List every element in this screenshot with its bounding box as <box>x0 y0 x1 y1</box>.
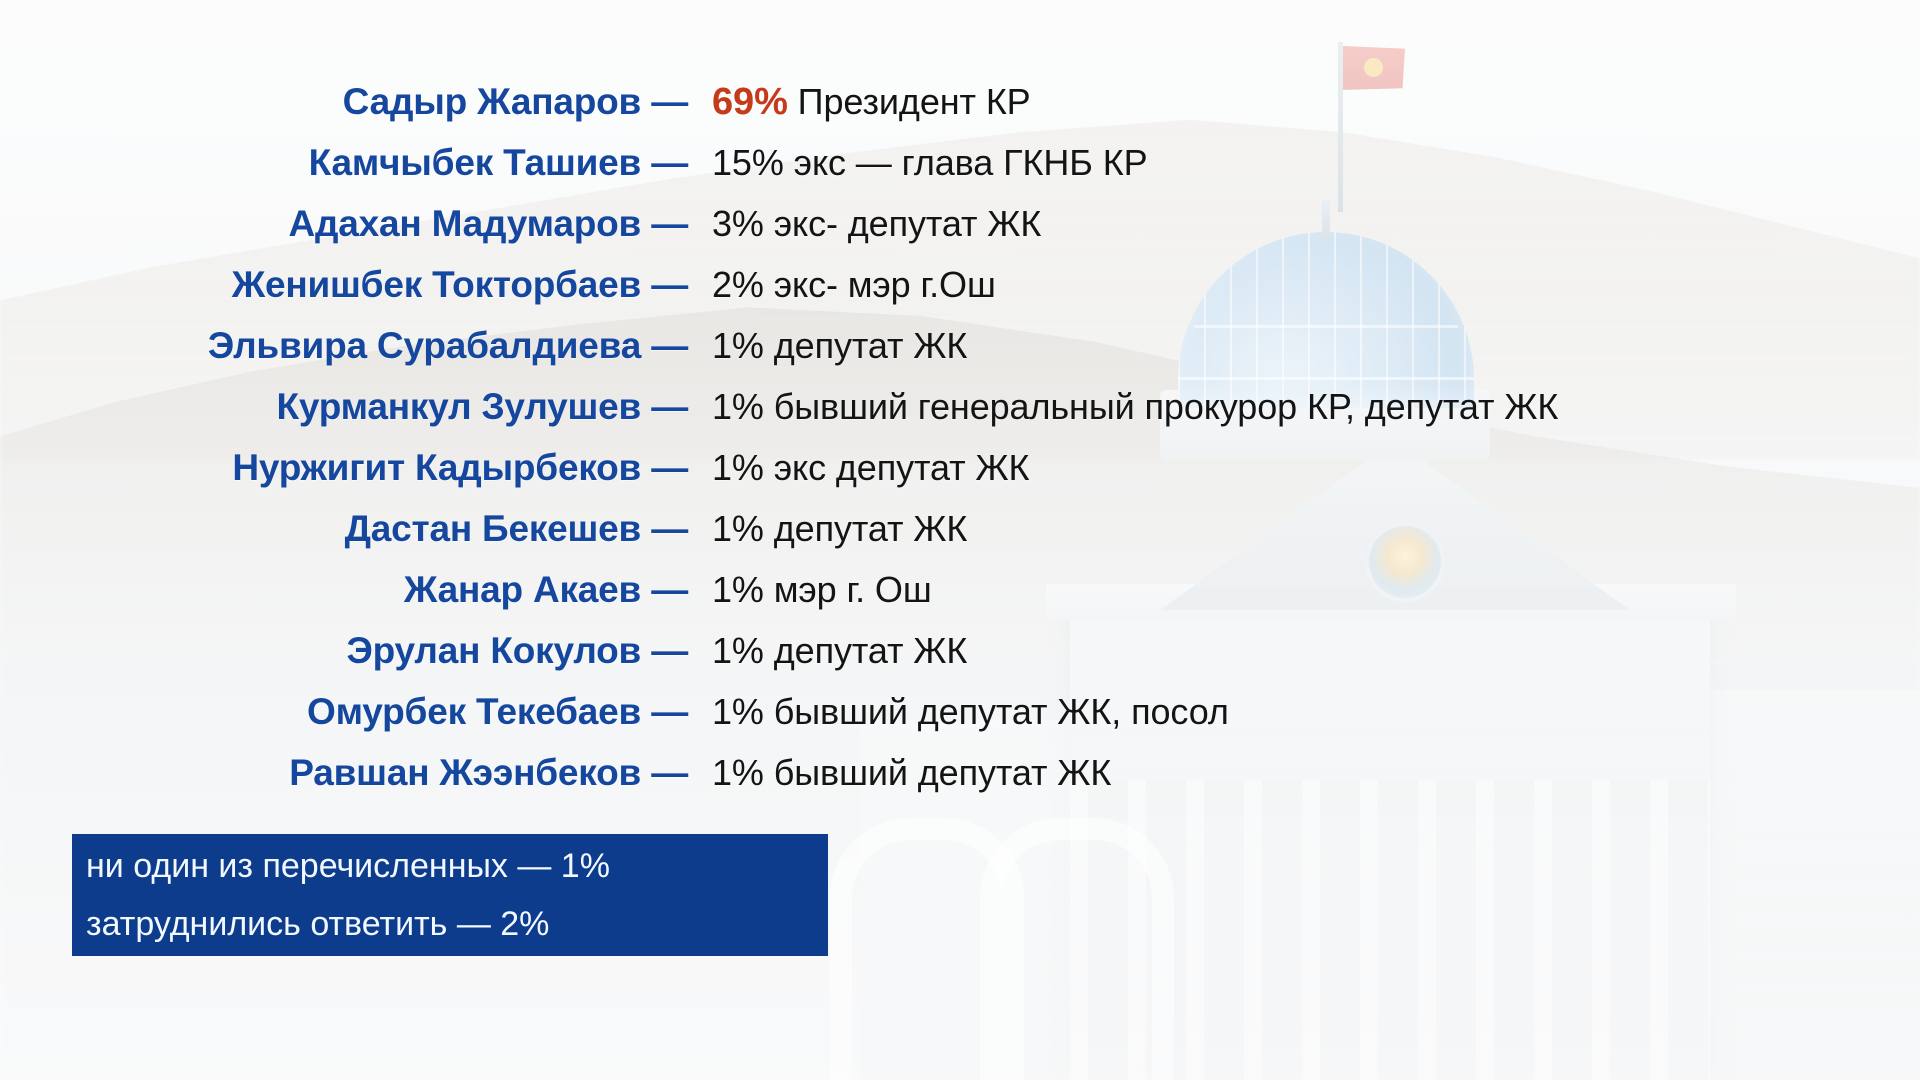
candidate-name: Адахан Мадумаров — <box>0 203 712 245</box>
answer-none-of-listed: ни один из перечисленных — 1% <box>86 837 828 895</box>
candidate-name: Эльвира Сурабалдиева — <box>0 325 712 367</box>
percent-value: 3% <box>712 203 764 244</box>
percent-value: 2% <box>712 264 764 305</box>
candidate-role: Президент КР <box>798 81 1031 122</box>
candidate-role: депутат ЖК <box>774 508 968 549</box>
candidate-role: депутат ЖК <box>774 630 968 671</box>
poll-row-value: 15% экс — глава ГКНБ КР <box>712 142 1147 184</box>
percent-value: 1% <box>712 325 764 366</box>
percent-value: 1% <box>712 447 764 488</box>
candidate-name: Женишбек Токторбаев — <box>0 264 712 306</box>
candidate-name: Эрулан Кокулов — <box>0 630 712 672</box>
candidate-name: Жанар Акаев — <box>0 569 712 611</box>
candidate-name: Садыр Жапаров — <box>0 81 712 123</box>
poll-row: Эльвира Сурабалдиева — 1% депутат ЖК <box>0 316 1920 376</box>
candidate-role: экс- депутат ЖК <box>774 203 1042 244</box>
poll-row-value: 69% Президент КР <box>712 81 1031 124</box>
percent-value: 1% <box>712 752 764 793</box>
percent-value: 1% <box>712 630 764 671</box>
candidate-role: бывший депутат ЖК <box>774 752 1112 793</box>
poll-row: Женишбек Токторбаев — 2% экс- мэр г.Ош <box>0 255 1920 315</box>
poll-row: Адахан Мадумаров — 3% экс- депутат ЖК <box>0 194 1920 254</box>
poll-row-value: 1% депутат ЖК <box>712 508 967 550</box>
answer-undecided: затруднились ответить — 2% <box>86 895 828 953</box>
poll-row-value: 3% экс- депутат ЖК <box>712 203 1041 245</box>
poll-row-value: 1% депутат ЖК <box>712 630 967 672</box>
poll-row-value: 1% бывший генеральный прокурор КР, депут… <box>712 386 1558 428</box>
percent-value: 1% <box>712 691 764 732</box>
candidate-role: экс депутат ЖК <box>774 447 1030 488</box>
percent-value: 15% <box>712 142 784 183</box>
percent-value: 1% <box>712 508 764 549</box>
candidate-role: мэр г. Ош <box>774 569 932 610</box>
candidate-name: Дастан Бекешев — <box>0 508 712 550</box>
poll-row: Камчыбек Ташиев — 15% экс — глава ГКНБ К… <box>0 133 1920 193</box>
poll-row: Равшан Жээнбеков — 1% бывший депутат ЖК <box>0 743 1920 803</box>
poll-row: Эрулан Кокулов — 1% депутат ЖК <box>0 621 1920 681</box>
poll-row: Омурбек Текебаев — 1% бывший депутат ЖК,… <box>0 682 1920 742</box>
candidate-role: бывший генеральный прокурор КР, депутат … <box>774 386 1559 427</box>
poll-row: Нуржигит Кадырбеков — 1% экс депутат ЖК <box>0 438 1920 498</box>
poll-results-list: Садыр Жапаров — 69% Президент КР Камчыбе… <box>0 0 1920 1080</box>
candidate-name: Курманкул Зулушев — <box>0 386 712 428</box>
poll-row: Курманкул Зулушев — 1% бывший генеральны… <box>0 377 1920 437</box>
candidate-role: экс- мэр г.Ош <box>774 264 996 305</box>
percent-value: 69% <box>712 81 788 123</box>
poll-row: Дастан Бекешев — 1% депутат ЖК <box>0 499 1920 559</box>
poll-row-value: 1% бывший депутат ЖК <box>712 752 1111 794</box>
percent-value: 1% <box>712 386 764 427</box>
poll-row-value: 1% депутат ЖК <box>712 325 967 367</box>
poll-row-value: 2% экс- мэр г.Ош <box>712 264 996 306</box>
poll-row-value: 1% бывший депутат ЖК, посол <box>712 691 1229 733</box>
candidate-name: Камчыбек Ташиев — <box>0 142 712 184</box>
poll-row: Садыр Жапаров — 69% Президент КР <box>0 72 1920 132</box>
candidate-name: Омурбек Текебаев — <box>0 691 712 733</box>
poll-row-value: 1% мэр г. Ош <box>712 569 932 611</box>
percent-value: 1% <box>712 569 764 610</box>
candidate-role: экс — глава ГКНБ КР <box>794 142 1148 183</box>
candidate-role: бывший депутат ЖК, посол <box>774 691 1229 732</box>
poll-row-value: 1% экс депутат ЖК <box>712 447 1029 489</box>
slide-canvas: Садыр Жапаров — 69% Президент КР Камчыбе… <box>0 0 1920 1080</box>
other-answers-box: ни один из перечисленных — 1% затруднили… <box>72 834 828 956</box>
candidate-name: Нуржигит Кадырбеков — <box>0 447 712 489</box>
candidate-name: Равшан Жээнбеков — <box>0 752 712 794</box>
candidate-role: депутат ЖК <box>774 325 968 366</box>
poll-row: Жанар Акаев — 1% мэр г. Ош <box>0 560 1920 620</box>
